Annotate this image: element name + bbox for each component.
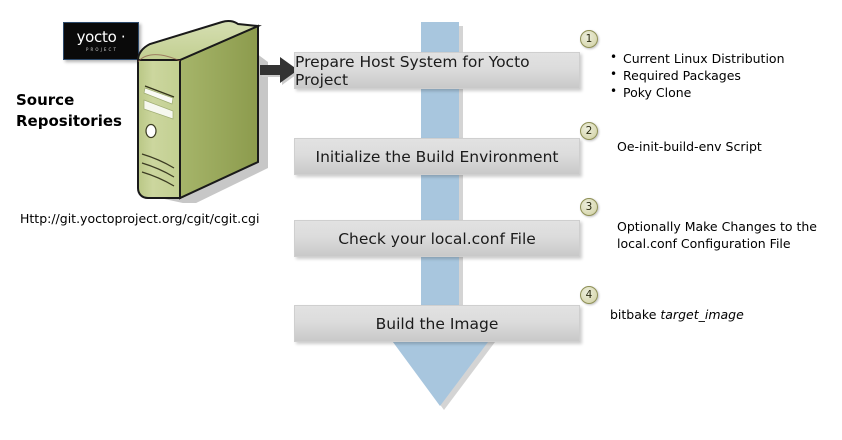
list-item: Poky Clone [610,84,785,101]
step-number-badge-1: 1 [580,30,598,48]
step-annotation-1: Current Linux Distribution Required Pack… [610,50,785,101]
step-annotation-3-line1: Optionally Make Changes to the [617,218,837,235]
step-box-1[interactable]: Prepare Host System for Yocto Project [294,52,580,89]
step-annotation-2-line1: Oe-init-build-env Script [617,138,762,155]
step-annotation-3: Optionally Make Changes to the local.con… [617,218,837,252]
list-item: Current Linux Distribution [610,50,785,67]
source-repository-url: Http://git.yoctoproject.org/cgit/cgit.cg… [20,211,259,226]
step-annotation-3-line2: local.conf Configuration File [617,235,837,252]
step-annotation-2: Oe-init-build-env Script [617,138,762,155]
step-annotation-1-list: Current Linux Distribution Required Pack… [610,50,785,101]
step-box-2[interactable]: Initialize the Build Environment [294,138,580,175]
step-number-badge-2: 2 [580,122,598,140]
yocto-logo-subtitle: PROJECT [86,46,118,53]
diagram-canvas: yocto · PROJECT Source Repositories [0,0,842,440]
step-annotation-4: bitbake target_image [610,306,744,323]
step-annotation-4-command: bitbake [610,307,660,322]
step-number-badge-4: 4 [580,286,598,304]
step-annotation-4-target: target_image [660,307,743,322]
step-number-badge-3: 3 [580,198,598,216]
step-box-4[interactable]: Build the Image [294,305,580,342]
server-tower-icon [118,18,278,203]
list-item: Required Packages [610,67,785,84]
step-box-3[interactable]: Check your local.conf File [294,220,580,257]
